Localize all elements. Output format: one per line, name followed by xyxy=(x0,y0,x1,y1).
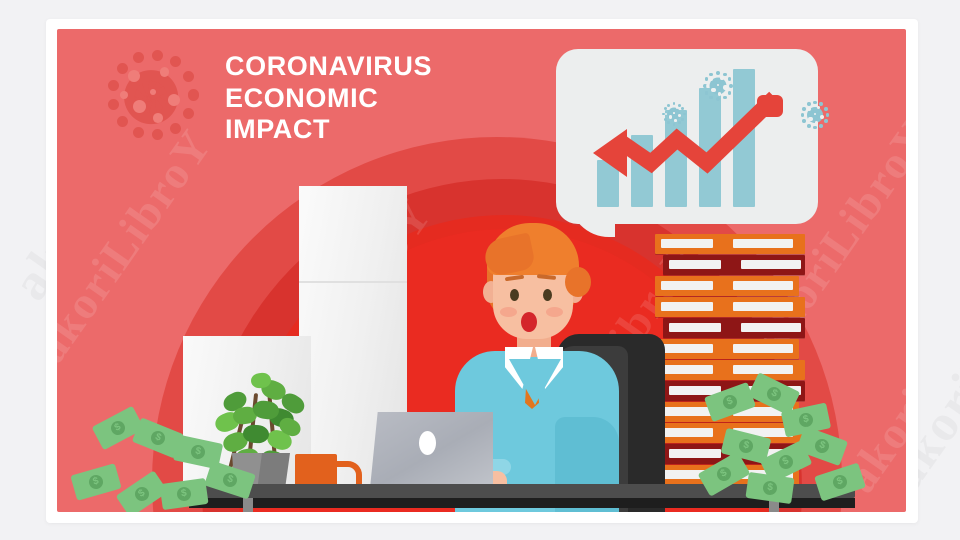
file-label xyxy=(669,323,721,332)
file-label xyxy=(733,365,793,374)
virus-inner-dot xyxy=(808,117,812,121)
dollar-symbol: $ xyxy=(813,437,831,455)
virus-inner-dot xyxy=(153,113,163,123)
virus-spike-knob xyxy=(716,71,720,75)
file-label xyxy=(741,260,801,269)
file-folder xyxy=(655,276,799,296)
person-mouth-surprised xyxy=(521,312,537,332)
dollar-symbol: $ xyxy=(190,444,207,461)
virus-inner-dot xyxy=(814,113,816,115)
title-line-2: ECONOMIC xyxy=(225,83,432,115)
dollar-symbol: $ xyxy=(738,438,755,455)
dollar-bill-icon: $ xyxy=(70,463,121,501)
file-label xyxy=(733,239,793,248)
dollar-symbol: $ xyxy=(762,480,778,496)
virus-inner-dot xyxy=(120,91,128,99)
dollar-symbol: $ xyxy=(714,464,733,483)
virus-spike-knob xyxy=(709,73,713,77)
virus-spike-knob xyxy=(673,123,676,126)
virus-spike-knob xyxy=(824,107,828,111)
dollar-symbol: $ xyxy=(176,486,192,502)
virus-spike-knob xyxy=(170,56,181,67)
virus-spike-knob xyxy=(807,102,811,106)
file-label xyxy=(733,302,793,311)
watermark-5: akoriLibroY xyxy=(833,249,906,502)
file-folder xyxy=(663,255,805,275)
file-label xyxy=(661,428,713,437)
dollar-symbol: $ xyxy=(721,393,739,411)
virus-inner-dot xyxy=(820,115,824,119)
coronavirus-icon xyxy=(105,47,197,147)
virus-inner-dot xyxy=(669,115,673,119)
virus-spike-knob xyxy=(183,71,194,82)
virus-spike-knob xyxy=(117,116,128,127)
virus-inner-dot xyxy=(673,112,675,114)
background-panel-tall-seam xyxy=(299,281,407,283)
virus-inner-dot xyxy=(674,119,677,122)
file-folder xyxy=(655,297,805,317)
virus-spike-knob xyxy=(728,77,732,81)
dollar-symbol: $ xyxy=(149,429,167,447)
virus-inner-dot xyxy=(160,67,170,77)
laptop-logo xyxy=(419,431,436,455)
file-label xyxy=(669,449,721,458)
title-line-1: CORONAVIRUS xyxy=(225,51,432,83)
file-label xyxy=(733,281,793,290)
file-folder xyxy=(655,360,805,380)
file-folder xyxy=(655,234,805,254)
virus-inner-dot xyxy=(807,107,811,111)
virus-spike-knob xyxy=(673,102,676,105)
virus-inner-dot xyxy=(128,70,140,82)
virus-inner-dot xyxy=(168,94,180,106)
dollar-symbol: $ xyxy=(132,484,151,503)
virus-inner-dot xyxy=(150,89,156,95)
coronavirus-icon-small-2 xyxy=(701,69,735,103)
virus-spike-knob xyxy=(170,123,181,134)
file-label xyxy=(733,344,793,353)
person-cheek-right xyxy=(546,307,563,317)
file-label xyxy=(661,344,713,353)
file-folder xyxy=(663,318,805,338)
plant-leaf xyxy=(242,424,269,444)
virus-spike-knob xyxy=(681,118,684,121)
virus-spike-knob xyxy=(709,96,713,100)
virus-spike-knob xyxy=(802,119,806,123)
page-title: CORONAVIRUS ECONOMIC IMPACT xyxy=(225,51,432,146)
virus-inner-dot xyxy=(804,114,807,117)
virus-spike-knob xyxy=(188,89,199,100)
virus-spike-knob xyxy=(705,77,709,81)
virus-spike-knob xyxy=(133,52,144,63)
virus-spike-knob xyxy=(802,107,806,111)
virus-spike-knob xyxy=(183,108,194,119)
dollar-symbol: $ xyxy=(777,453,796,472)
file-label xyxy=(661,365,713,374)
virus-inner-dot xyxy=(720,76,723,79)
virus-spike-knob xyxy=(667,121,670,124)
virus-inner-dot xyxy=(815,121,818,124)
virus-spike-knob xyxy=(723,96,727,100)
virus-spike-knob xyxy=(683,113,686,116)
person-eye-left xyxy=(510,289,519,301)
file-label xyxy=(661,239,713,248)
virus-spike-knob xyxy=(108,99,119,110)
virus-inner-dot xyxy=(678,114,681,117)
virus-inner-dot xyxy=(723,85,727,89)
virus-spike-knob xyxy=(678,121,681,124)
virus-spike-knob xyxy=(728,91,732,95)
virus-spike-knob xyxy=(729,84,733,88)
desk-underside xyxy=(189,498,855,508)
virus-inner-dot xyxy=(717,84,719,86)
virus-inner-dot xyxy=(718,92,721,95)
virus-spike-knob xyxy=(824,119,828,123)
virus-spike-knob xyxy=(819,102,823,106)
file-label xyxy=(741,323,801,332)
coronavirus-icon-small-1 xyxy=(661,101,687,127)
virus-spike-knob xyxy=(819,124,823,128)
virus-spike-knob xyxy=(716,97,720,101)
person-hair-bun xyxy=(565,267,591,297)
virus-spike-knob xyxy=(826,113,830,117)
virus-spike-knob xyxy=(664,118,667,121)
virus-spike-knob xyxy=(152,129,163,140)
person-eye-right xyxy=(543,289,552,301)
file-label xyxy=(669,260,721,269)
dollar-symbol: $ xyxy=(109,419,128,438)
virus-spike-knob xyxy=(117,63,128,74)
dollar-symbol: $ xyxy=(765,385,784,404)
dollar-symbol: $ xyxy=(831,473,849,491)
file-folder xyxy=(655,339,799,359)
title-line-3: IMPACT xyxy=(225,114,432,146)
person-cheek-left xyxy=(500,307,517,317)
illustration-canvas: akoriLibroY akoriLibroY akoriLibroY akor… xyxy=(0,0,960,540)
virus-spike-knob xyxy=(807,124,811,128)
virus-spike-knob xyxy=(152,50,163,61)
file-label xyxy=(661,407,713,416)
coronavirus-icon-small-3 xyxy=(799,99,831,131)
dollar-symbol: $ xyxy=(221,471,239,489)
file-label xyxy=(661,302,713,311)
desk-leg-left xyxy=(243,498,253,512)
virus-spike-knob xyxy=(678,104,681,107)
file-label xyxy=(661,281,713,290)
virus-inner-dot xyxy=(711,88,716,93)
virus-spike-knob xyxy=(705,91,709,95)
virus-spike-knob xyxy=(108,80,119,91)
virus-spike-knob xyxy=(681,107,684,110)
dollar-symbol: $ xyxy=(87,473,104,490)
virus-spike-knob xyxy=(813,126,817,130)
illustration-artboard: akoriLibroY akoriLibroY akoriLibroY akor… xyxy=(57,29,906,512)
virus-spike-knob xyxy=(813,101,817,105)
virus-spike-knob xyxy=(133,127,144,138)
